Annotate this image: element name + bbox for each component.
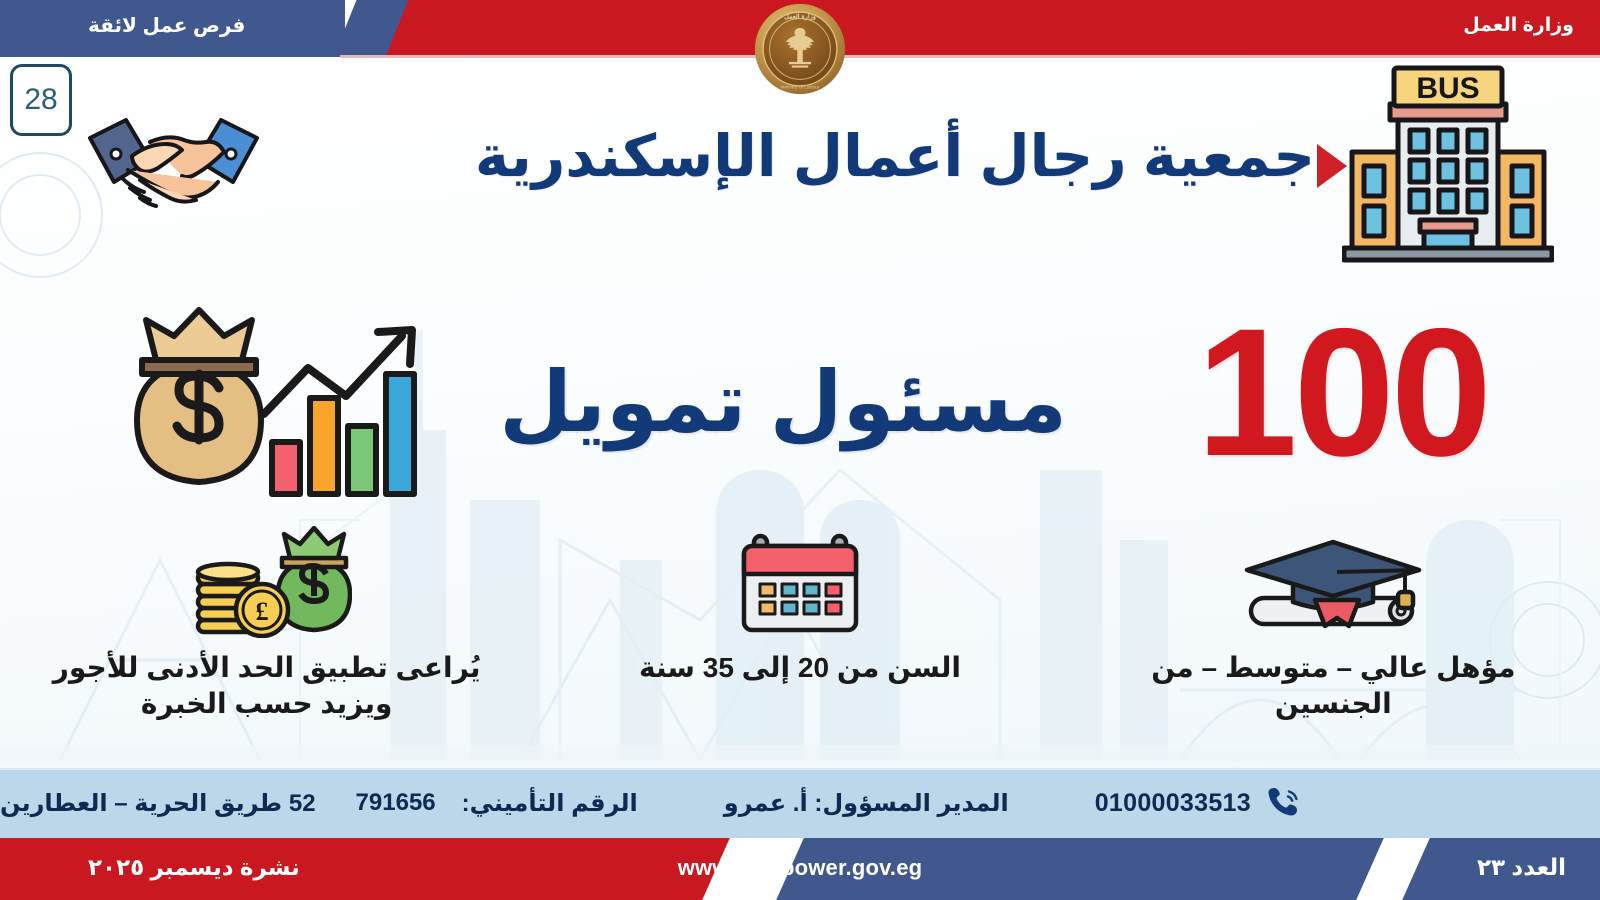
contact-address: 52 طريق الحرية – العطارين: [0, 789, 316, 818]
business-building-icon: BUS: [1342, 56, 1554, 266]
top-bar-red-band: [340, 0, 1600, 57]
requirement-text: السن من 20 إلى 35 سنة: [639, 650, 961, 686]
svg-text:وزارة العمل: وزارة العمل: [784, 14, 816, 21]
tagline-label: فرص عمل لائقة: [88, 13, 245, 38]
footer-website-url[interactable]: www.manpower.gov.eg: [678, 855, 923, 881]
phone-number: 01000033513: [1095, 789, 1251, 818]
requirement-item-qualification: مؤهل عالي – متوسط – من الجنسين: [1067, 522, 1600, 752]
calendar-icon: [734, 526, 866, 638]
svg-text:Ministry of Labour: Ministry of Labour: [780, 85, 820, 91]
ministry-label: وزارة العمل: [1463, 14, 1574, 37]
contact-manager: المدير المسؤول: أ. عمرو: [724, 789, 1009, 818]
egypt-eagle-emblem-icon: وزارة العمل Ministry of Labour: [754, 3, 846, 95]
requirement-text: يُراعى تطبيق الحد الأدنى للأجور ويزيد حس…: [52, 650, 482, 722]
money-bag-growth-chart-icon: [82, 302, 437, 502]
slide-number-value: 28: [24, 83, 57, 117]
footer-issue-label: العدد ٢٣: [1477, 854, 1566, 881]
coins-money-bag-icon: £: [182, 526, 352, 638]
hero-row: 100 مسئول تمويل: [0, 300, 1600, 515]
svg-text:BUS: BUS: [1416, 72, 1479, 105]
contact-phone[interactable]: 01000033513: [1095, 784, 1303, 822]
contact-bar: 52 طريق الحرية – العطارين الرقم التأميني…: [0, 768, 1600, 838]
requirement-item-age: السن من 20 إلى 35 سنة: [533, 522, 1066, 752]
graduation-cap-icon: [1233, 526, 1433, 638]
company-title: جمعية رجال أعمال الإسكندرية: [475, 122, 1315, 190]
requirement-item-salary: £ يُراعى تطبيق الحد الأدنى للأجور ويزيد …: [0, 522, 533, 752]
footer-bar: نشرة ديسمبر ٢٠٢٥ www.manpower.gov.eg الع…: [0, 838, 1600, 900]
ministry-emblem: وزارة العمل Ministry of Labour: [754, 3, 846, 95]
phone-icon: [1265, 784, 1303, 822]
footer-bulletin-label: نشرة ديسمبر ٢٠٢٥: [88, 854, 300, 881]
insurance-label: الرقم التأميني:: [462, 789, 638, 818]
job-title-label: مسئول تمويل: [499, 347, 1067, 457]
svg-text:£: £: [255, 597, 268, 626]
requirement-text: مؤهل عالي – متوسط – من الجنسين: [1098, 650, 1568, 722]
poster-canvas: وزارة العمل فرص عمل لائقة: [0, 0, 1600, 900]
insurance-number: 791656: [356, 789, 436, 817]
handshake-icon: [66, 102, 281, 222]
title-row: جمعية رجال أعمال الإسكندرية: [0, 104, 1600, 234]
requirements-grid: £ يُراعى تطبيق الحد الأدنى للأجور ويزيد …: [0, 522, 1600, 752]
vacancy-count: 100: [1196, 292, 1488, 492]
contact-insurance: الرقم التأميني: 791656: [356, 789, 638, 818]
slide-number-badge: 28: [10, 64, 72, 136]
